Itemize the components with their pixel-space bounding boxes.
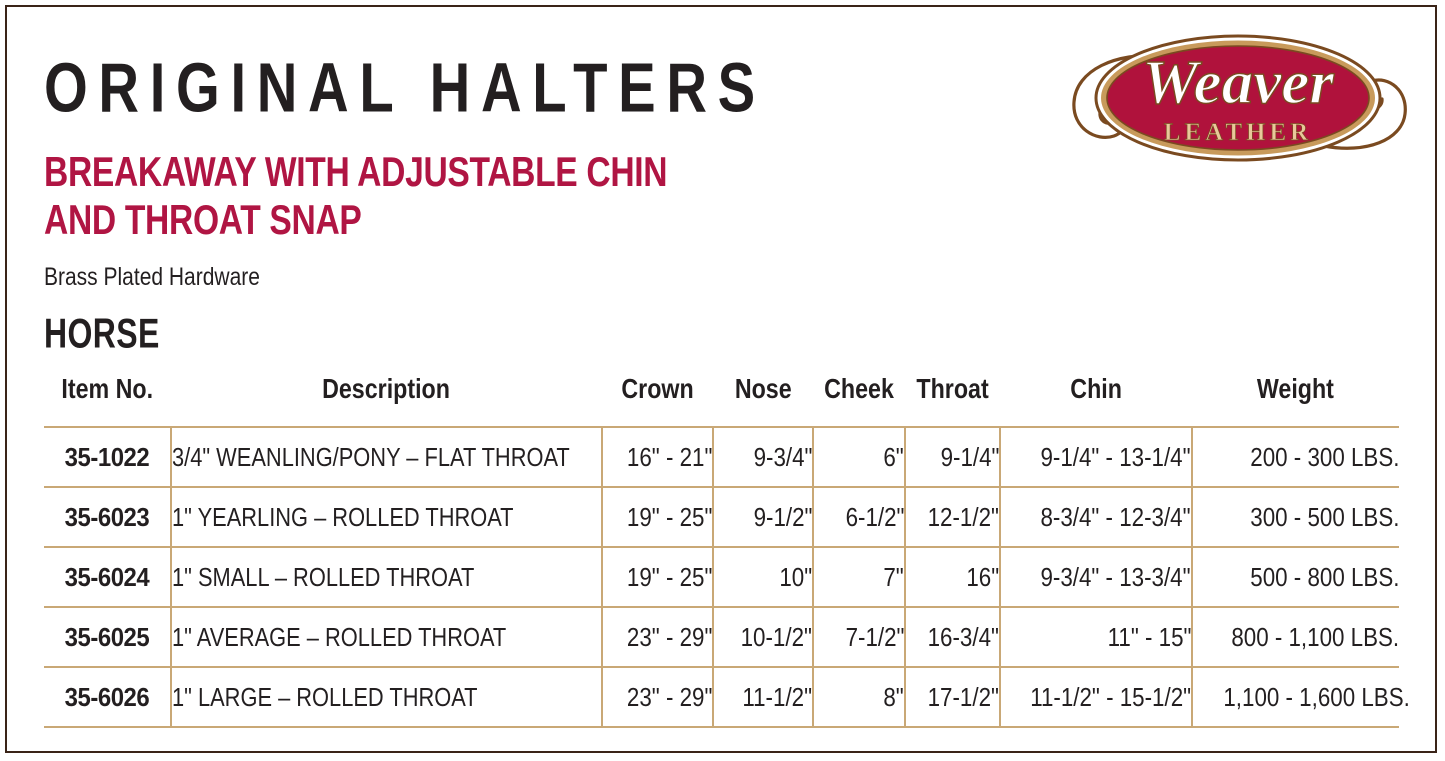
cell-description: 3/4" WEANLING/PONY – FLAT THROAT xyxy=(171,427,602,487)
logo-brand-name: Weaver xyxy=(1142,48,1335,117)
cell-crown: 19" - 25" xyxy=(602,547,713,607)
product-spec-card: ORIGINAL HALTERS BREAKAWAY WITH ADJUSTAB… xyxy=(0,0,1445,761)
column-header-description: Description xyxy=(171,372,602,427)
cell-crown: 19" - 25" xyxy=(602,487,713,547)
cell-throat: 16-3/4" xyxy=(905,607,1000,667)
cell-description: 1" SMALL – ROLLED THROAT xyxy=(171,547,602,607)
cell-item-no: 35-6024 xyxy=(44,547,171,607)
cell-description: 1" LARGE – ROLLED THROAT xyxy=(171,667,602,727)
hardware-note: Brass Plated Hardware xyxy=(44,264,884,290)
cell-description: 1" AVERAGE – ROLLED THROAT xyxy=(171,607,602,667)
cell-weight: 200 - 300 LBS. xyxy=(1192,427,1399,487)
cell-nose: 9-1/2" xyxy=(713,487,813,547)
column-header-crown: Crown xyxy=(602,372,713,427)
cell-chin: 9-1/4" - 13-1/4" xyxy=(1000,427,1192,487)
header-text-block: ORIGINAL HALTERS BREAKAWAY WITH ADJUSTAB… xyxy=(44,54,1044,353)
specifications-table: Item No. Description Crown Nose Cheek Th… xyxy=(44,372,1399,728)
cell-cheek: 6-1/2" xyxy=(813,487,905,547)
column-header-weight: Weight xyxy=(1192,372,1399,427)
table-header-row: Item No. Description Crown Nose Cheek Th… xyxy=(44,372,1399,427)
cell-weight: 300 - 500 LBS. xyxy=(1192,487,1399,547)
cell-nose: 10-1/2" xyxy=(713,607,813,667)
logo-svg: Weaver LEATHER xyxy=(1066,18,1411,178)
cell-crown: 16" - 21" xyxy=(602,427,713,487)
cell-item-no: 35-6025 xyxy=(44,607,171,667)
column-header-chin: Chin xyxy=(1000,372,1192,427)
table-row: 35-6026 1" LARGE – ROLLED THROAT 23" - 2… xyxy=(44,667,1399,727)
cell-description: 1" YEARLING – ROLLED THROAT xyxy=(171,487,602,547)
page-title: ORIGINAL HALTERS xyxy=(44,54,1014,124)
cell-cheek: 6" xyxy=(813,427,905,487)
cell-nose: 9-3/4" xyxy=(713,427,813,487)
cell-item-no: 35-1022 xyxy=(44,427,171,487)
cell-throat: 16" xyxy=(905,547,1000,607)
subtitle-line-1: BREAKAWAY WITH ADJUSTABLE CHIN xyxy=(44,148,667,195)
column-header-throat: Throat xyxy=(905,372,1000,427)
cell-weight: 800 - 1,100 LBS. xyxy=(1192,607,1399,667)
cell-weight: 500 - 800 LBS. xyxy=(1192,547,1399,607)
cell-chin: 11-1/2" - 15-1/2" xyxy=(1000,667,1192,727)
cell-throat: 9-1/4" xyxy=(905,427,1000,487)
cell-cheek: 8" xyxy=(813,667,905,727)
cell-throat: 17-1/2" xyxy=(905,667,1000,727)
table-row: 35-6025 1" AVERAGE – ROLLED THROAT 23" -… xyxy=(44,607,1399,667)
cell-item-no: 35-6026 xyxy=(44,667,171,727)
table-row: 35-6024 1" SMALL – ROLLED THROAT 19" - 2… xyxy=(44,547,1399,607)
column-header-cheek: Cheek xyxy=(813,372,905,427)
logo-brand-sub: LEATHER xyxy=(1164,119,1312,146)
cell-weight: 1,100 - 1,600 LBS. xyxy=(1192,667,1399,727)
cell-nose: 11-1/2" xyxy=(713,667,813,727)
column-header-nose: Nose xyxy=(713,372,813,427)
category-heading: HORSE xyxy=(44,313,844,355)
cell-crown: 23" - 29" xyxy=(602,607,713,667)
cell-cheek: 7" xyxy=(813,547,905,607)
table-row: 35-6023 1" YEARLING – ROLLED THROAT 19" … xyxy=(44,487,1399,547)
product-subtitle: BREAKAWAY WITH ADJUSTABLE CHIN AND THROA… xyxy=(44,148,844,244)
weaver-leather-logo: Weaver LEATHER xyxy=(1066,18,1411,178)
column-header-item-no: Item No. xyxy=(44,372,171,427)
cell-nose: 10" xyxy=(713,547,813,607)
cell-chin: 8-3/4" - 12-3/4" xyxy=(1000,487,1192,547)
cell-cheek: 7-1/2" xyxy=(813,607,905,667)
subtitle-line-2: AND THROAT SNAP xyxy=(44,196,844,244)
cell-chin: 11" - 15" xyxy=(1000,607,1192,667)
table-row: 35-1022 3/4" WEANLING/PONY – FLAT THROAT… xyxy=(44,427,1399,487)
cell-crown: 23" - 29" xyxy=(602,667,713,727)
cell-chin: 9-3/4" - 13-3/4" xyxy=(1000,547,1192,607)
cell-throat: 12-1/2" xyxy=(905,487,1000,547)
cell-item-no: 35-6023 xyxy=(44,487,171,547)
